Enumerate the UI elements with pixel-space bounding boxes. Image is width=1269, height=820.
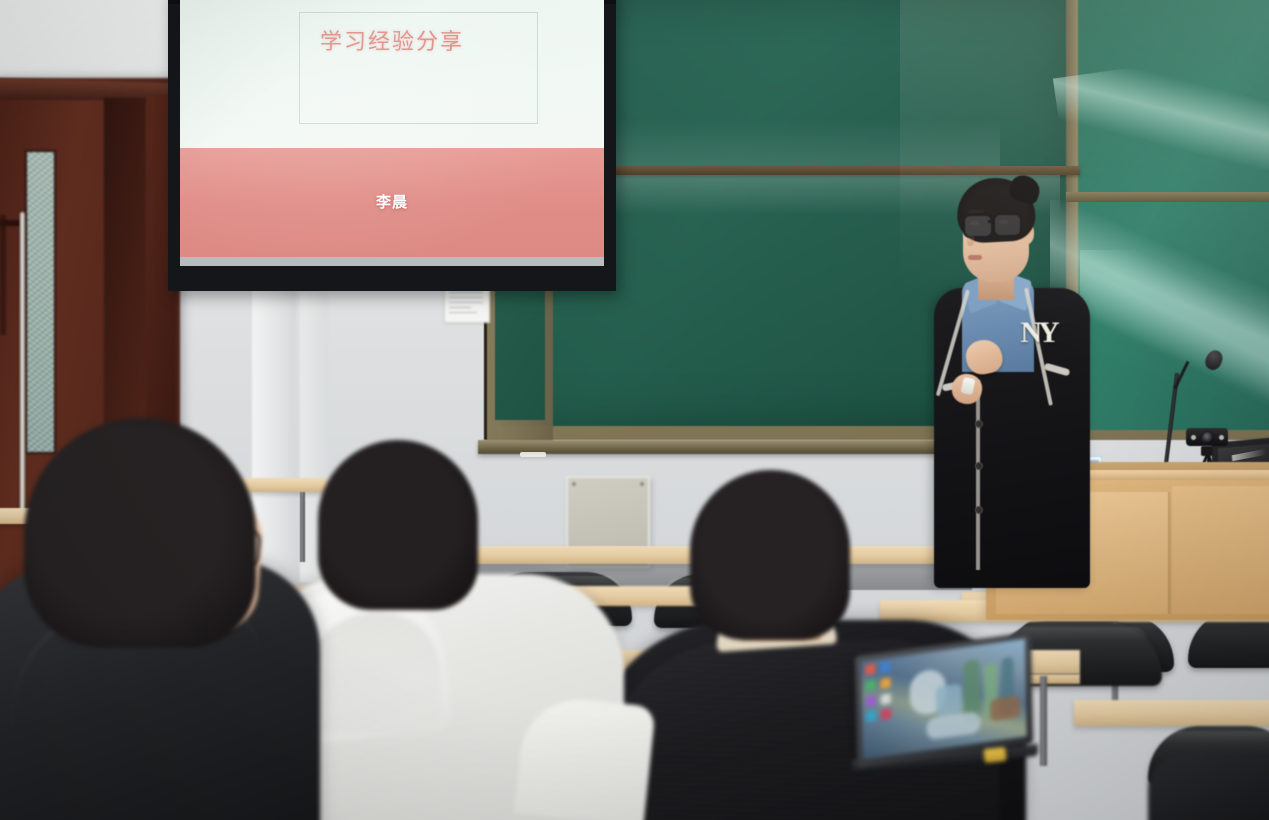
presentation-slide: 学习经验分享 李晨 bbox=[180, 0, 604, 266]
slide-presenter-name: 李晨 bbox=[180, 191, 604, 212]
student-front-center-hair bbox=[318, 440, 478, 610]
door-lock[interactable] bbox=[0, 220, 20, 226]
presenter-mouth bbox=[968, 255, 982, 260]
webcam-indicator-right bbox=[1219, 435, 1224, 440]
door-glass-window bbox=[25, 150, 56, 454]
laptop-sticker bbox=[983, 747, 1006, 763]
door-panel-seam bbox=[0, 215, 6, 335]
tripod-head bbox=[1201, 446, 1213, 456]
student-front-right-hair bbox=[690, 470, 850, 640]
desk-leg bbox=[1040, 676, 1047, 766]
presenter-nose bbox=[967, 234, 974, 246]
laptop-desktop-icons bbox=[865, 661, 892, 725]
chalk-piece[interactable] bbox=[520, 452, 546, 457]
backpack[interactable] bbox=[1148, 752, 1269, 820]
desk-row-front-right bbox=[1074, 700, 1269, 726]
slide-title: 学习经验分享 bbox=[180, 24, 604, 56]
presenter-glasses-right-lens bbox=[993, 213, 1022, 237]
podium-panel-right bbox=[1172, 486, 1269, 614]
classroom-photo: 学习经验分享 李晨 bbox=[0, 0, 1269, 820]
webcam-indicator-left bbox=[1191, 435, 1196, 440]
webcam-lens bbox=[1201, 431, 1215, 445]
laptop-wallpaper bbox=[905, 649, 1026, 746]
student-front-left-hair bbox=[24, 418, 256, 648]
sunlight-streak-lower bbox=[1080, 250, 1269, 440]
projector-screen: 学习经验分享 李晨 bbox=[180, 0, 604, 266]
slide-footer-bar bbox=[180, 257, 604, 266]
presenter-glasses-bridge bbox=[988, 220, 994, 223]
desk-leg bbox=[300, 492, 305, 562]
cardigan-placket bbox=[976, 380, 980, 570]
cardigan-ny-logo: NY bbox=[1018, 316, 1058, 350]
door-handle[interactable] bbox=[20, 212, 25, 512]
